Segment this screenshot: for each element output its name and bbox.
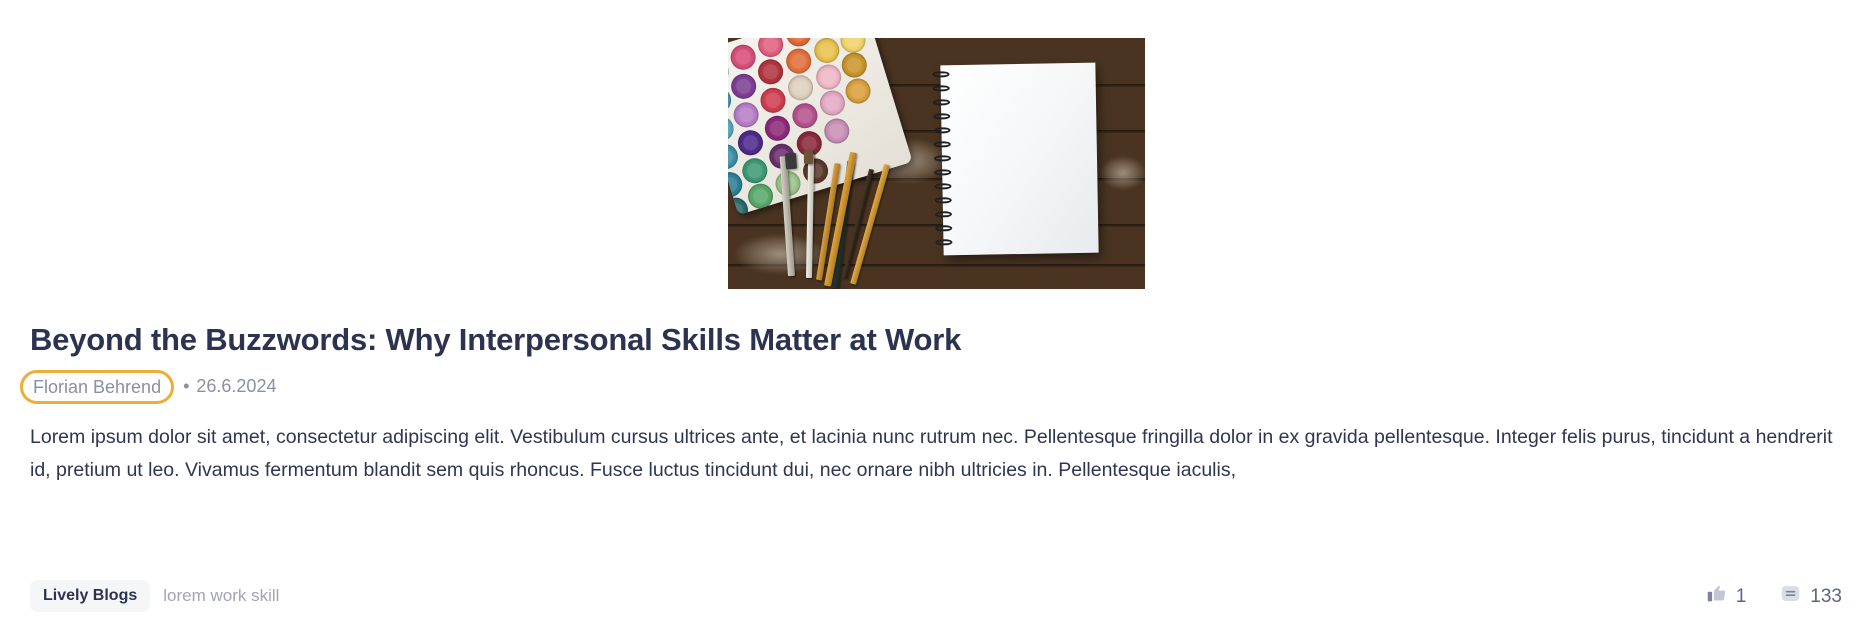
post-taxonomy: Lively Blogs lorem work skill (30, 580, 279, 612)
thumbs-up-icon (1706, 583, 1727, 609)
likes-stat[interactable]: 1 (1706, 583, 1747, 609)
post-excerpt: Lorem ipsum dolor sit amet, consectetur … (30, 421, 1842, 488)
post-meta: Florian Behrend • 26.6.2024 (30, 372, 1842, 402)
meta-separator-dot: • (183, 376, 189, 397)
comment-icon (1780, 583, 1801, 609)
likes-count: 1 (1736, 587, 1747, 606)
paintbrush-flat-ferrule (784, 153, 796, 170)
blog-post-card[interactable]: Beyond the Buzzwords: Why Interpersonal … (0, 0, 1872, 640)
paintbrush-round-tip (804, 150, 813, 164)
comments-stat[interactable]: 133 (1780, 583, 1842, 609)
post-title[interactable]: Beyond the Buzzwords: Why Interpersonal … (30, 321, 1842, 359)
post-image-wrapper (30, 0, 1842, 289)
post-footer: Lively Blogs lorem work skill 1 (30, 580, 1842, 612)
post-author-link[interactable]: Florian Behrend (20, 370, 174, 405)
post-stats: 1 133 (1706, 583, 1842, 609)
post-hero-image[interactable] (728, 38, 1145, 289)
post-date: 26.6.2024 (196, 376, 276, 397)
post-tag-list[interactable]: lorem work skill (163, 587, 279, 606)
comments-count: 133 (1810, 587, 1842, 606)
spiral-notebook (940, 63, 1098, 256)
post-category-badge[interactable]: Lively Blogs (30, 580, 150, 612)
